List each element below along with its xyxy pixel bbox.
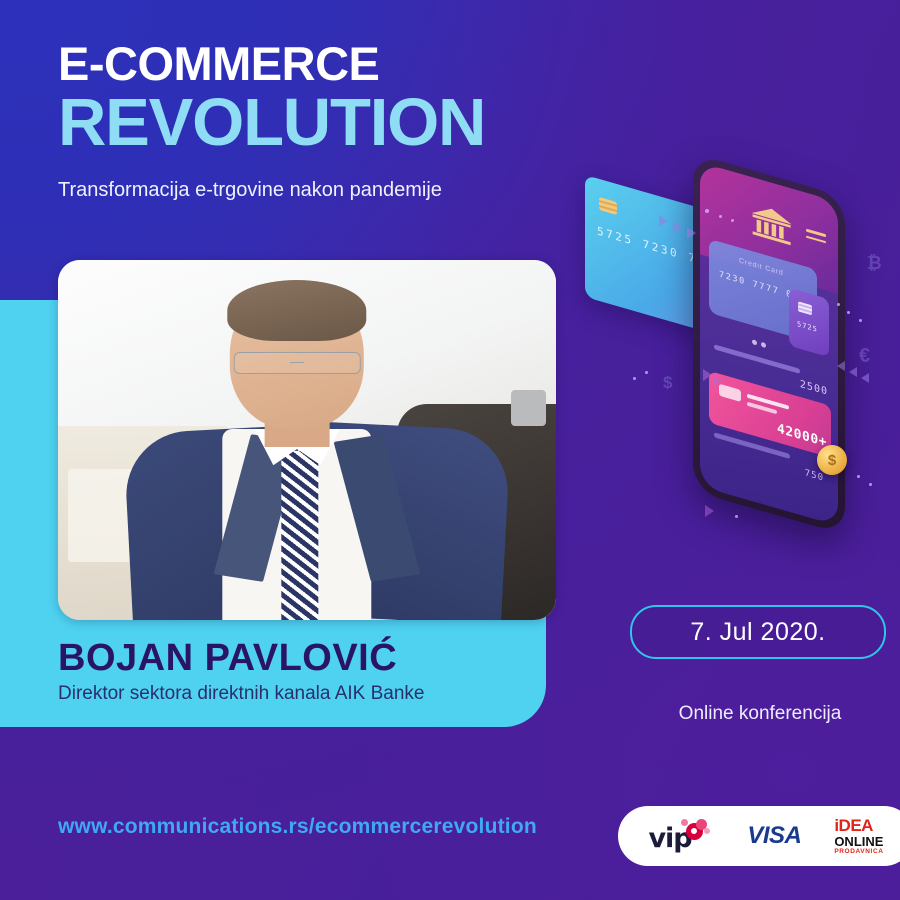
arrow-triangle-icon xyxy=(703,369,712,381)
card-chip-icon xyxy=(599,197,617,215)
mini-card-number: 5725 xyxy=(797,320,818,334)
credit-card-label: Credit Card xyxy=(739,257,784,277)
sparkle-dot xyxy=(633,377,636,380)
sponsor-logo-idea: iDEA ONLINE PRODAVNICA xyxy=(834,817,883,856)
event-format-text: Online konferencija xyxy=(650,703,870,725)
sparkle-dot xyxy=(859,319,862,322)
screen-mini-card: 5725 xyxy=(789,288,829,357)
headline-line-2: REVOLUTION xyxy=(58,89,678,157)
sponsor-logo-bar: vip VISA iDEA ONLINE PRODAVNICA xyxy=(618,806,900,866)
arrow-triangle-icon xyxy=(861,373,869,383)
sparkle-dot xyxy=(735,515,738,518)
photo-chair-frame xyxy=(511,390,546,426)
arrow-triangle-icon xyxy=(673,221,682,233)
sponsor-logo-vip: vip xyxy=(648,819,714,853)
euro-symbol-icon: € xyxy=(859,345,870,368)
carousel-dots[interactable] xyxy=(752,331,770,354)
speaker-role: Direktor sektora direktnih kanala AIK Ba… xyxy=(58,683,424,705)
mini-card-chip-icon xyxy=(798,301,812,315)
speaker-name: BOJAN PAVLOVIĆ xyxy=(58,637,397,680)
sparkle-dot xyxy=(705,209,709,213)
sparkle-dot xyxy=(869,483,872,486)
event-date-badge: 7. Jul 2020. xyxy=(630,605,886,659)
sparkle-dot xyxy=(857,475,860,478)
sparkle-dot xyxy=(731,219,734,222)
photo-eyeglasses xyxy=(234,352,361,374)
sparkle-dot xyxy=(847,311,850,314)
sponsor-logo-visa: VISA xyxy=(747,822,801,850)
arrow-triangle-icon xyxy=(687,227,696,239)
promo-poster: E-COMMERCE REVOLUTION Transformacija e-t… xyxy=(0,0,900,900)
arrow-triangle-icon xyxy=(659,215,668,227)
headline-line-1: E-COMMERCE xyxy=(58,40,678,87)
pink-card-chip-icon xyxy=(719,384,741,402)
arrow-triangle-icon xyxy=(705,505,714,517)
coin-icon: $ xyxy=(817,445,847,475)
event-url[interactable]: www.communications.rs/ecommercerevolutio… xyxy=(58,815,537,839)
payment-illustration: 5725 7230 7777 Credi xyxy=(585,175,900,545)
idea-wordmark: iDEA xyxy=(834,817,883,834)
event-date-text: 7. Jul 2020. xyxy=(690,618,825,647)
vip-bubble-icon xyxy=(704,828,710,834)
menu-icon[interactable] xyxy=(806,229,826,248)
arrow-triangle-icon xyxy=(849,367,857,377)
sparkle-dot xyxy=(719,215,722,218)
dollar-symbol-icon: $ xyxy=(663,373,672,393)
arrow-triangle-icon xyxy=(837,361,845,371)
smartphone-device: Credit Card 7230 7777 0000 5725 2500 420… xyxy=(693,153,845,535)
speaker-portrait-photo xyxy=(58,260,556,620)
amount-top-text: 2500 xyxy=(800,379,828,398)
vip-wordmark: vip xyxy=(648,825,691,852)
idea-prodavnica-text: PRODAVNICA xyxy=(834,849,883,856)
idea-online-text: ONLINE xyxy=(834,835,883,848)
bitcoin-symbol-icon: ₿ xyxy=(867,253,882,274)
amount-main-text: 42000+ xyxy=(777,421,827,450)
sparkle-dot xyxy=(645,371,648,374)
photo-necktie xyxy=(281,451,318,620)
photo-hair xyxy=(227,280,366,341)
sparkle-dot xyxy=(837,303,840,306)
bank-icon xyxy=(750,200,794,247)
arrow-triangle-icon xyxy=(713,375,722,387)
